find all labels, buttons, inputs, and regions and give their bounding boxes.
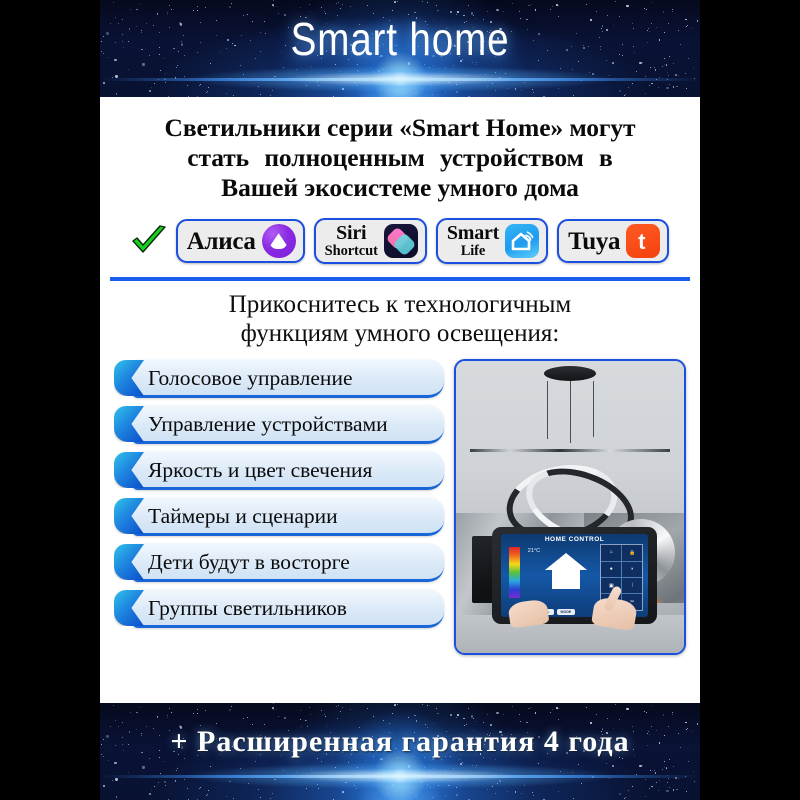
section-divider xyxy=(110,277,690,281)
top-banner-title: Smart home xyxy=(148,12,652,66)
green-check-icon xyxy=(131,225,167,257)
lens-flare-ray xyxy=(190,763,610,789)
badge-smartlife-text-top: Smart xyxy=(447,223,499,243)
lock-icon[interactable]: 🔒 xyxy=(622,545,642,560)
headline-block: Светильники серии «Smart Home» могут ста… xyxy=(100,97,700,202)
top-banner: Smart home xyxy=(100,0,700,97)
drop-icon[interactable]: ◗ xyxy=(622,562,642,577)
badge-tuya-text: Tuya xyxy=(568,229,620,254)
tablet-app-title: HOME CONTROL xyxy=(501,536,647,543)
badge-smart-life[interactable]: Smart Life xyxy=(436,218,548,264)
subtitle-line-1: Прикоснитесь к технологичным xyxy=(229,291,572,318)
badge-alisa-label: Алиса xyxy=(187,229,256,254)
badge-alisa[interactable]: Алиса xyxy=(176,219,305,263)
list-item[interactable]: Таймеры и сценарии xyxy=(114,497,444,536)
ecosystem-badge-row: Алиса Siri Shortcut Smart Life xyxy=(100,218,700,264)
list-item-label: Группы светильников xyxy=(148,596,347,621)
list-item[interactable]: Дети будут в восторге xyxy=(114,543,444,582)
smart-life-house-icon xyxy=(505,224,539,258)
content-panel: Светильники серии «Smart Home» могут ста… xyxy=(100,97,700,703)
mode-button[interactable]: MODE xyxy=(557,609,576,615)
badge-siri-text-top: Siri xyxy=(336,223,366,243)
list-item-label: Дети будут в восторге xyxy=(148,550,350,575)
tuya-icon: t xyxy=(626,224,660,258)
headline-line-1: Светильники серии «Smart Home» могут xyxy=(165,113,636,142)
thermometer-icon[interactable]: | xyxy=(622,578,642,593)
alisa-icon xyxy=(262,224,296,258)
section-subtitle: Прикоснитесь к технологичным функциям ум… xyxy=(120,290,680,349)
list-item[interactable]: Группы светильников xyxy=(114,589,444,628)
badge-smartlife-label: Smart Life xyxy=(447,223,499,259)
chandelier-canopy xyxy=(544,366,596,381)
color-spectrum-strip[interactable] xyxy=(509,547,521,598)
features-and-photo: Голосовое управление Управление устройст… xyxy=(100,349,700,655)
page-headline: Светильники серии «Smart Home» могут ста… xyxy=(114,113,686,202)
list-item-label: Управление устройствами xyxy=(148,412,388,437)
home-icon[interactable]: ⌂ xyxy=(601,545,621,560)
badge-smartlife-text-sub: Life xyxy=(461,244,486,259)
bulb-icon[interactable]: ● xyxy=(601,562,621,577)
badge-siri-text-sub: Shortcut xyxy=(325,244,378,259)
tuya-glyph: t xyxy=(638,231,645,253)
feature-list: Голосовое управление Управление устройст… xyxy=(114,359,444,655)
list-item[interactable]: Яркость и цвет свечения xyxy=(114,451,444,490)
badge-siri-label: Siri Shortcut xyxy=(325,223,378,259)
list-item[interactable]: Управление устройствами xyxy=(114,405,444,444)
lens-flare-ray xyxy=(190,66,610,92)
list-item[interactable]: Голосовое управление xyxy=(114,359,444,398)
list-item-label: Таймеры и сценарии xyxy=(148,504,338,529)
smart-home-interior-photo: HOME CONTROL 21°C ⌂ 🔒 ● ◗ ▣ | xyxy=(454,359,686,655)
siri-shortcut-icon xyxy=(384,224,418,258)
tablet-device[interactable]: HOME CONTROL 21°C ⌂ 🔒 ● ◗ ▣ | xyxy=(492,527,656,623)
list-item-label: Яркость и цвет свечения xyxy=(148,458,372,483)
list-item-label: Голосовое управление xyxy=(148,366,353,391)
temperature-readout: 21°C xyxy=(528,548,540,554)
poster: Smart home Светильники серии «Smart Home… xyxy=(0,0,800,800)
subtitle-line-2: функциям умного освещения: xyxy=(241,320,560,347)
badge-tuya-label: Tuya xyxy=(568,229,620,254)
badge-tuya[interactable]: Tuya t xyxy=(557,219,669,263)
bottom-banner: + Расширенная гарантия 4 года xyxy=(100,703,700,800)
house-icon xyxy=(545,553,606,599)
headline-line-2: стать полноценным устройством в xyxy=(114,143,686,173)
badge-siri-shortcut[interactable]: Siri Shortcut xyxy=(314,218,427,264)
bottom-banner-title: + Расширенная гарантия 4 года xyxy=(100,725,700,759)
headline-line-3: Вашей экосистеме умного дома xyxy=(221,173,579,202)
badge-alisa-text: Алиса xyxy=(187,229,256,254)
